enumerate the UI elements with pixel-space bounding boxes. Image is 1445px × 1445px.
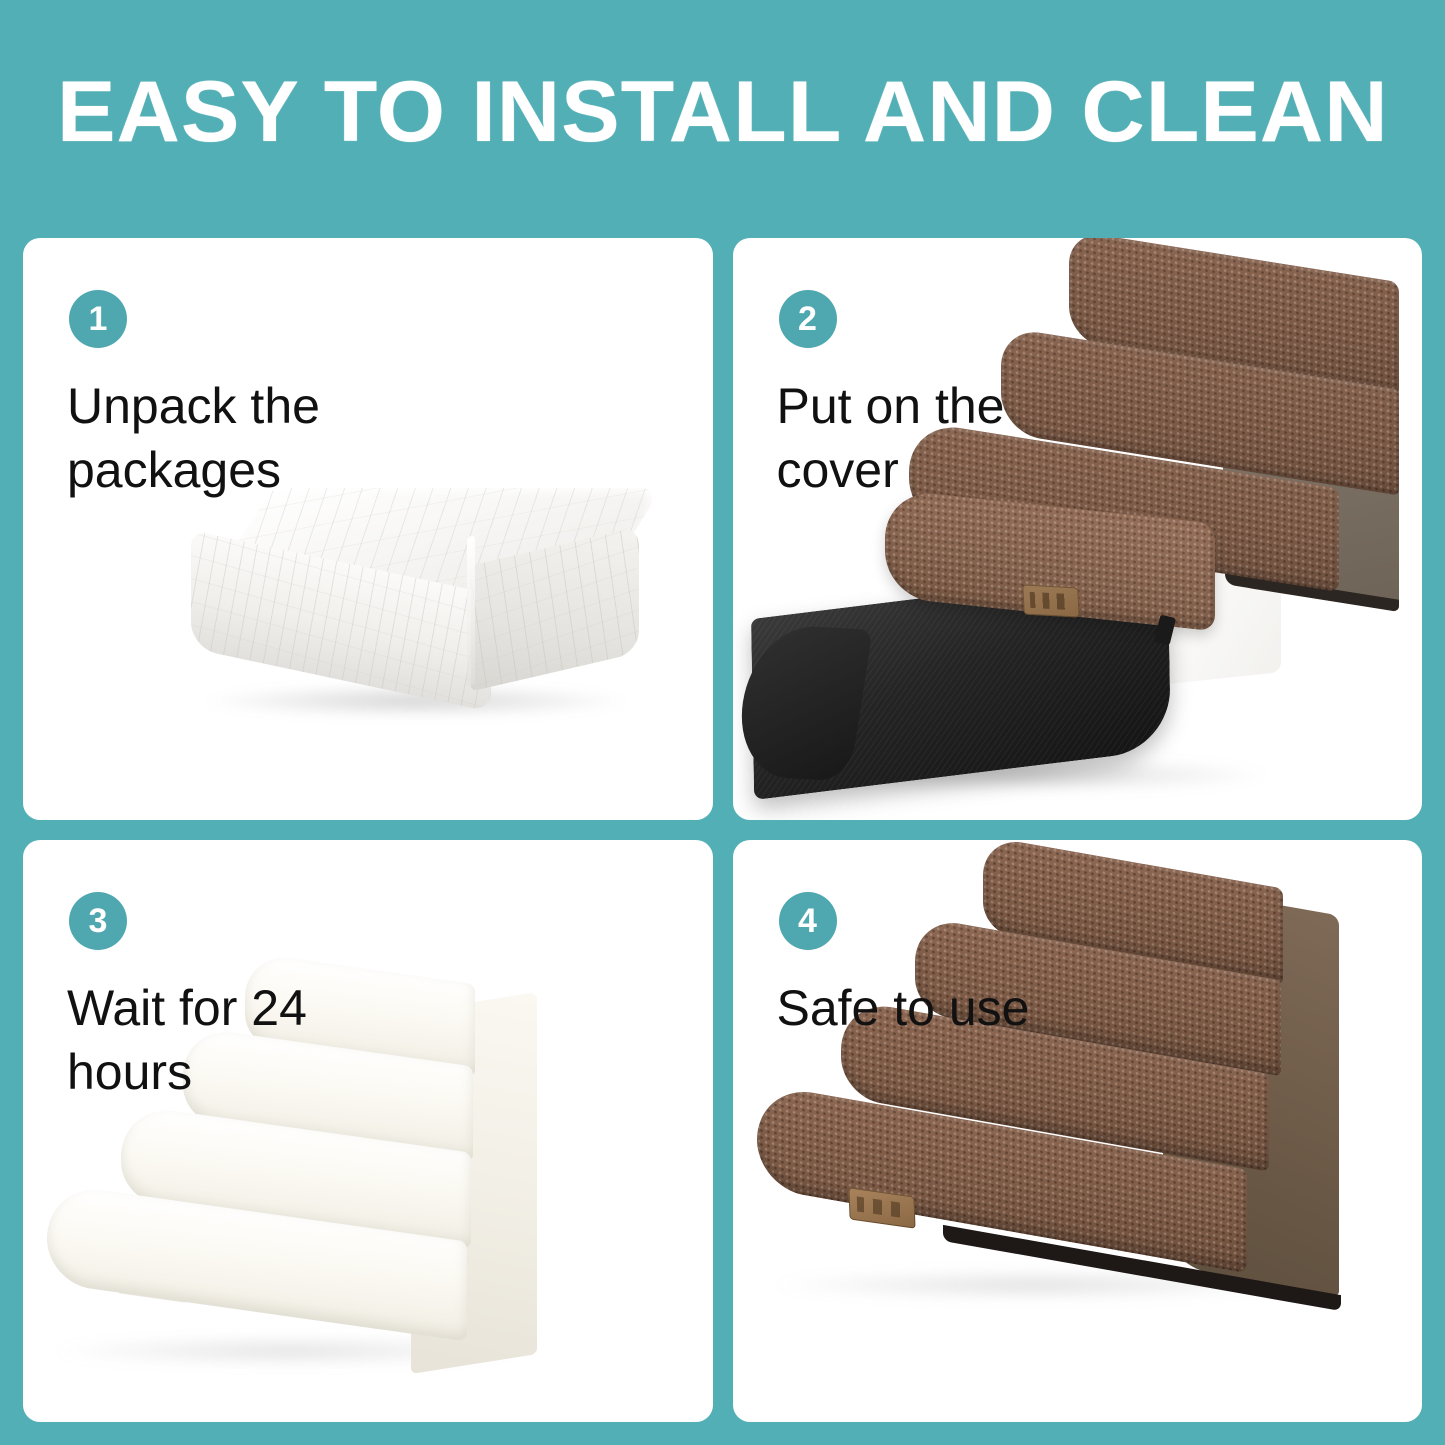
step-caption-4: Safe to use bbox=[777, 976, 1030, 1040]
step-caption-1: Unpack the packages bbox=[67, 374, 397, 502]
leather-brand-label bbox=[1022, 584, 1079, 617]
step-card-1: 1 Unpack the packages bbox=[23, 238, 713, 820]
step-caption-2: Put on the cover bbox=[777, 374, 1107, 502]
step-card-2: 2 Put on the cover bbox=[733, 238, 1423, 820]
step-number-badge-1: 1 bbox=[69, 290, 127, 348]
infographic-page: EASY TO INSTALL AND CLEAN 1 Unpack the p… bbox=[0, 0, 1445, 1445]
step-number-badge-4: 4 bbox=[779, 892, 837, 950]
steps-grid: 1 Unpack the packages 2 Put on the cover bbox=[23, 238, 1422, 1422]
header-banner: EASY TO INSTALL AND CLEAN bbox=[0, 0, 1445, 225]
step-number-badge-3: 3 bbox=[69, 892, 127, 950]
step-card-4: 4 Safe to use bbox=[733, 840, 1423, 1422]
step-number-badge-2: 2 bbox=[779, 290, 837, 348]
step-caption-3: Wait for 24 hours bbox=[67, 976, 397, 1104]
vacuum-sealed-foam-package-photo bbox=[171, 488, 661, 733]
package-plastic-seam bbox=[467, 535, 475, 687]
white-foam-stairs-photo bbox=[23, 840, 713, 1422]
page-title: EASY TO INSTALL AND CLEAN bbox=[57, 63, 1389, 162]
step-card-3: 3 Wait for 24 hours bbox=[23, 840, 713, 1422]
